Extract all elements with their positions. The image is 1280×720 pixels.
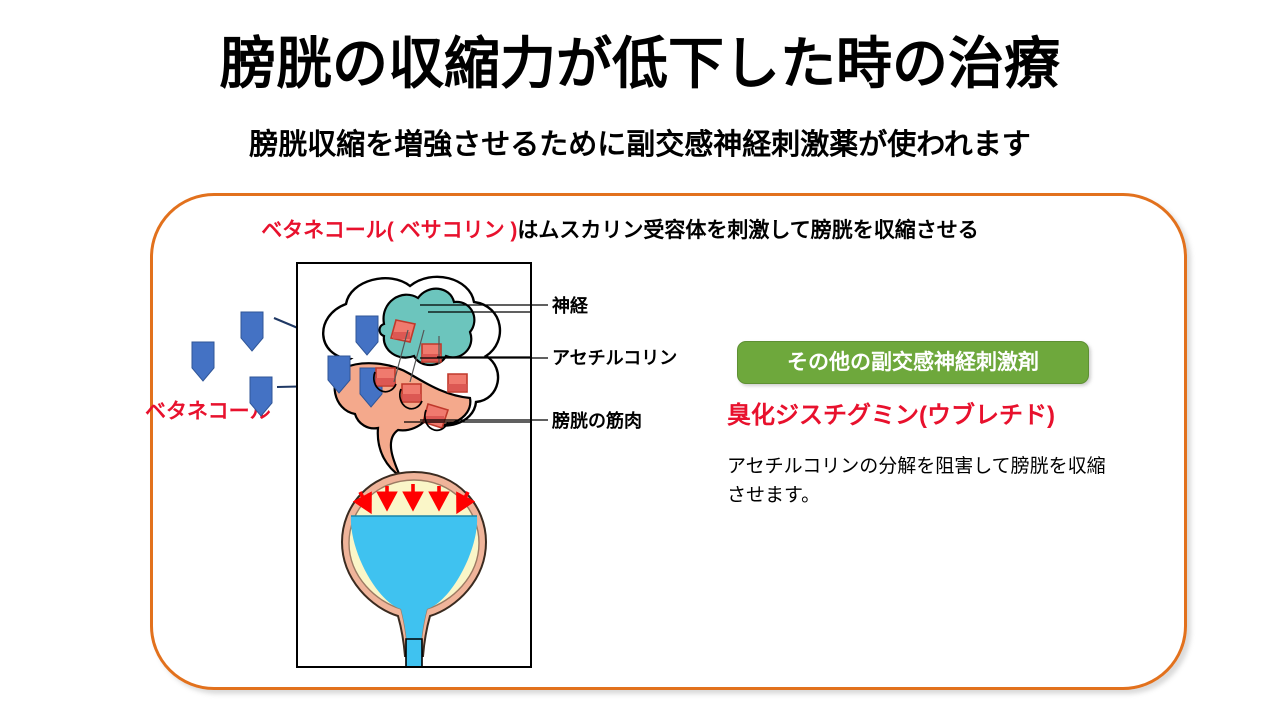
drug-label-bethanechol: ベタネコール (145, 398, 271, 426)
mechanism-description: はムスカリン受容体を刺激して膀胱を収縮させる (517, 219, 978, 242)
mechanism-drug-name: ベタネコール( ベサコリン ) (261, 219, 517, 242)
drug-description: アセチルコリンの分解を阻害して膀胱を収縮させます。 (727, 452, 1107, 510)
synapse-and-bladder-diagram (298, 264, 530, 666)
callout-label-acetylcholine: アセチルコリン (552, 346, 677, 370)
acetylcholine-band (402, 394, 421, 401)
page-subtitle: 膀胱収縮を増強させるために副交感神経刺激薬が使われます (0, 126, 1280, 164)
diagram-panel (296, 262, 532, 668)
bladder-illustration (342, 472, 486, 666)
callout-label-bladder-muscle: 膀胱の筋肉 (552, 409, 642, 433)
section-badge-label: その他の副交感神経刺激剤 (787, 350, 1039, 376)
mechanism-headline: ベタネコール( ベサコリン )はムスカリン受容体を刺激して膀胱を収縮させる (190, 216, 1050, 246)
callout-label-nerve: 神経 (552, 294, 588, 318)
acetylcholine-band (448, 384, 467, 391)
section-badge-other-parasympathomimetics: その他の副交感神経刺激剤 (737, 341, 1089, 384)
acetylcholine-band (376, 378, 395, 385)
urine-outflow-arrow (397, 639, 431, 666)
page-title: 膀胱の収縮力が低下した時の治療 (0, 30, 1280, 98)
drug-name-distigmine: 臭化ジスチグミン(ウブレチド) (727, 400, 1055, 432)
